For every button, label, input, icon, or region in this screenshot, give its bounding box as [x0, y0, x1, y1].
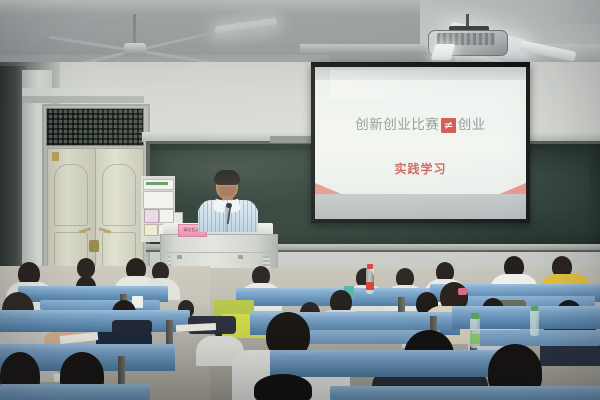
lecture-hall-photo: 创新创业比赛≠创业 实践学习 请勿乱动: [0, 0, 600, 400]
foreground-shadow: [0, 300, 600, 400]
